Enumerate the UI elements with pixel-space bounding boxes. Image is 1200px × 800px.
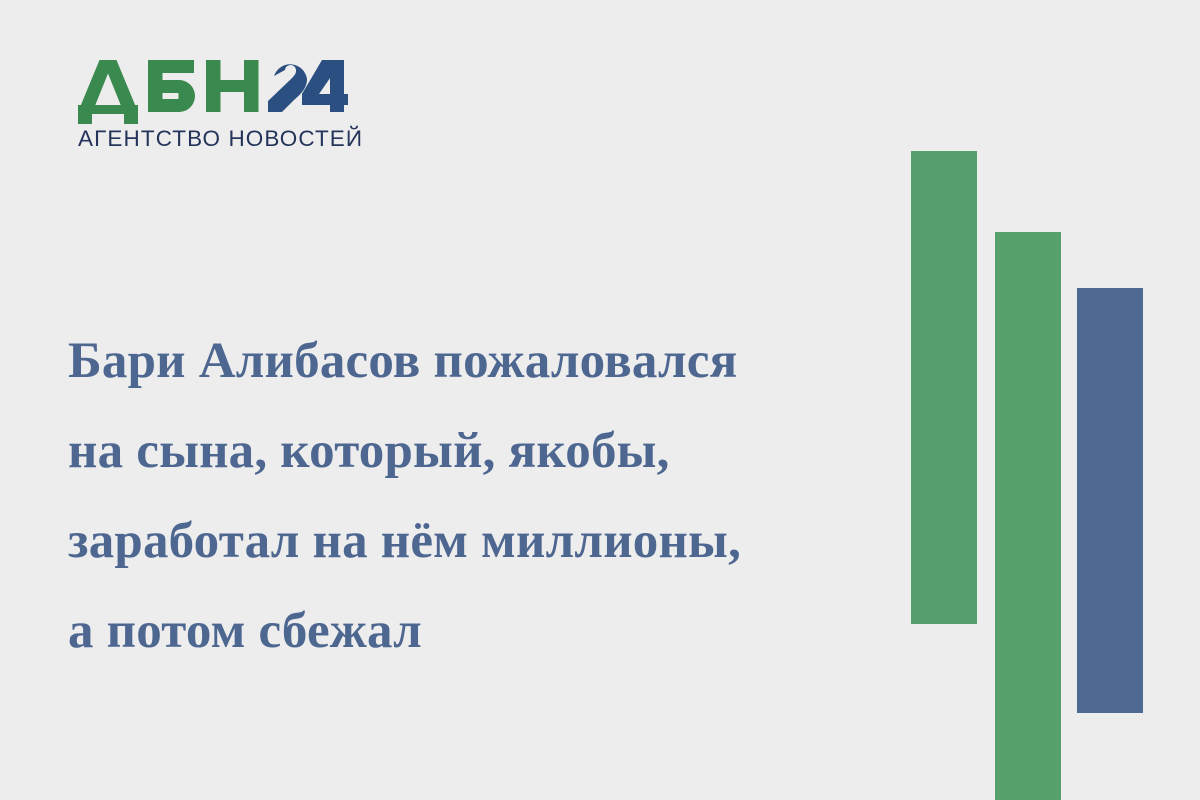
abn24-logo-mark bbox=[78, 60, 348, 124]
logo-tagline: АГЕНТСТВО НОВОСТЕЙ bbox=[78, 128, 378, 151]
headline-line-3: заработал на нём миллионы, bbox=[68, 496, 888, 586]
decor-bar-2 bbox=[995, 232, 1061, 800]
decor-bar-1 bbox=[911, 151, 977, 624]
headline-line-4: а потом сбежал bbox=[68, 586, 888, 676]
news-card: АГЕНТСТВО НОВОСТЕЙ Бари Алибасов пожалов… bbox=[0, 0, 1200, 800]
headline-line-1: Бари Алибасов пожаловался bbox=[68, 316, 888, 406]
decor-bar-3 bbox=[1077, 288, 1143, 713]
headline: Бари Алибасов пожаловался на сына, котор… bbox=[68, 316, 888, 676]
abn24-logo[interactable]: АГЕНТСТВО НОВОСТЕЙ bbox=[78, 60, 378, 151]
headline-line-2: на сына, который, якобы, bbox=[68, 406, 888, 496]
